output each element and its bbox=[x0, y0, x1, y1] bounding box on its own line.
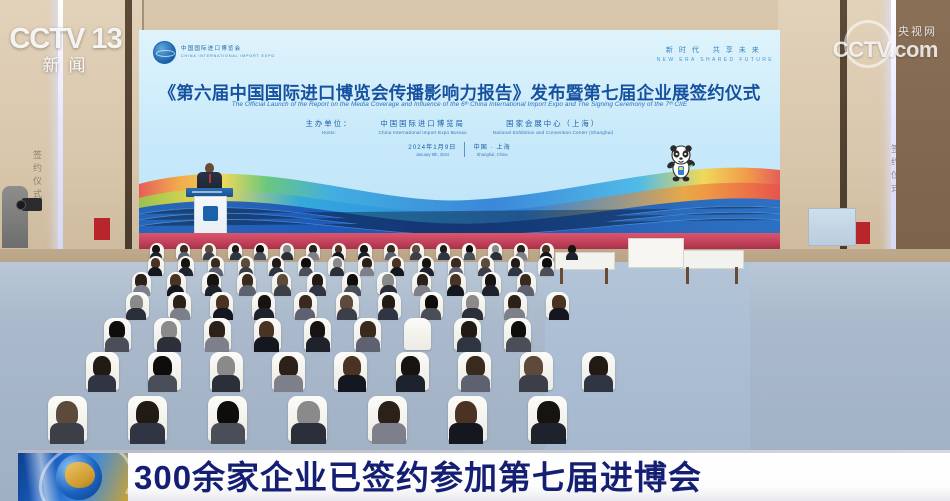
audience-member-shoulders bbox=[549, 308, 569, 320]
red-podium-box-left bbox=[94, 218, 110, 240]
host-2-cn: 国家会展中心（上海） bbox=[493, 118, 614, 129]
hosts-label: 主办单位： Hosts: bbox=[306, 118, 353, 135]
audience-member-shoulders bbox=[531, 423, 566, 444]
audience-member-shoulders bbox=[356, 337, 380, 352]
audience-member-shoulders bbox=[461, 375, 490, 393]
wall-calligraphy-right: 签约仪式 bbox=[888, 144, 901, 196]
audience-member-shoulders bbox=[584, 375, 613, 393]
headline-text: 300余家企业已签约参加第七届进博会 bbox=[134, 461, 702, 494]
slogan-cn: 新时代 共享未来 bbox=[657, 45, 774, 55]
audience-member-shoulders bbox=[126, 308, 146, 320]
host-1-en: China International Import Expo Bureau bbox=[378, 130, 466, 135]
audience-member-shoulders bbox=[447, 285, 464, 295]
audience-member-shoulders bbox=[360, 267, 374, 276]
red-podium-box-right bbox=[856, 222, 870, 244]
audience-member-shoulders bbox=[274, 285, 291, 295]
hosts-label-en: Hosts: bbox=[306, 130, 353, 135]
audience-member-shoulders bbox=[506, 337, 530, 352]
ciie-logo-cn: 中国国际进口博览会 bbox=[181, 46, 275, 53]
expo-slogan: 新时代 共享未来 NEW ERA SHARED FUTURE bbox=[657, 45, 774, 63]
stage-led-screen: 中国国际进口博览会 CHINA INTERNATIONAL IMPORT EXP… bbox=[139, 30, 780, 235]
audience-member-shoulders bbox=[274, 375, 303, 393]
hosts-label-cn: 主办单位： bbox=[306, 118, 353, 129]
audience-member-shoulders bbox=[148, 375, 177, 393]
audience-member bbox=[217, 356, 236, 377]
audience-member bbox=[279, 356, 298, 377]
panda-mascot-icon bbox=[664, 143, 698, 183]
audience-member bbox=[466, 356, 485, 377]
audience-member-shoulders bbox=[330, 267, 344, 276]
globe-icon bbox=[18, 453, 128, 501]
audience-member bbox=[401, 356, 420, 377]
audience-member-shoulders bbox=[378, 308, 398, 320]
audience-member-shoulders bbox=[566, 252, 578, 259]
broadcast-screenshot: 签约仪式 签约仪式 中国国际进口博览会 CHINA INTERNATIONAL … bbox=[0, 0, 950, 501]
slogan-en: NEW ERA SHARED FUTURE bbox=[657, 57, 774, 63]
audience-member-shoulders bbox=[540, 267, 554, 276]
audience-member-shoulders bbox=[105, 337, 129, 352]
audience-member-shoulders bbox=[254, 252, 266, 259]
audience-member-shoulders bbox=[396, 375, 425, 393]
audience-member-shoulders bbox=[212, 375, 241, 393]
ciie-logo-en: CHINA INTERNATIONAL IMPORT EXPO bbox=[181, 53, 275, 60]
head-table-3 bbox=[628, 238, 684, 268]
presenter-figure bbox=[197, 163, 222, 191]
audience-member-shoulders bbox=[205, 337, 229, 352]
audience-member-shoulders bbox=[464, 252, 476, 259]
audience-member-shoulders bbox=[338, 375, 367, 393]
audience-member-shoulders bbox=[239, 285, 256, 295]
audience-member bbox=[93, 356, 112, 377]
ciie-globe-emblem-icon bbox=[153, 41, 176, 64]
host-organization-2: 国家会展中心（上海） National Exhibition and Conve… bbox=[493, 118, 614, 135]
audience-member-shoulders bbox=[281, 252, 293, 259]
audience-member-shoulders bbox=[519, 375, 548, 393]
audience-member-shoulders bbox=[457, 337, 481, 352]
audience-member-shoulders bbox=[449, 423, 484, 444]
watermark-ring-icon bbox=[844, 20, 892, 68]
audience-member-shoulders bbox=[306, 337, 330, 352]
audience-member-shoulders bbox=[211, 423, 246, 444]
audience-member bbox=[343, 356, 362, 377]
audience-member bbox=[589, 356, 608, 377]
audience-member-shoulders bbox=[157, 337, 181, 352]
camera-lens-icon bbox=[16, 200, 26, 210]
side-exhibit-table bbox=[808, 208, 856, 246]
ciie-logo: 中国国际进口博览会 CHINA INTERNATIONAL IMPORT EXP… bbox=[153, 41, 275, 64]
audience-member-shoulders bbox=[438, 252, 450, 259]
event-title-en: The Official Launch of the Report on the… bbox=[139, 101, 780, 108]
podium-emblem-icon bbox=[203, 206, 218, 221]
audience-seat bbox=[404, 318, 431, 350]
audience-member-shoulders bbox=[130, 423, 165, 444]
audience-member-shoulders bbox=[482, 285, 499, 295]
wall-calligraphy-left: 签约仪式 bbox=[30, 150, 43, 202]
host-2-en: National Exhibition and Convention Cente… bbox=[493, 130, 614, 135]
audience-member-shoulders bbox=[337, 308, 357, 320]
audience-member-shoulders bbox=[291, 423, 326, 444]
audience-member-shoulders bbox=[254, 337, 278, 352]
audience-member-shoulders bbox=[88, 375, 117, 393]
headline-banner: 300余家企业已签约参加第七届进博会 bbox=[18, 453, 950, 501]
host-organization-1: 中国国际进口博览局 China International Import Exp… bbox=[378, 118, 466, 135]
hosts-row: 主办单位： Hosts: 中国国际进口博览局 China Internation… bbox=[139, 118, 780, 135]
host-1-cn: 中国国际进口博览局 bbox=[378, 118, 466, 129]
audience-member bbox=[524, 356, 543, 377]
camera-operator bbox=[2, 186, 28, 248]
audience-member-shoulders bbox=[50, 423, 85, 444]
audience-member bbox=[153, 356, 172, 377]
audience-member-shoulders bbox=[372, 423, 407, 444]
audience-member-shoulders bbox=[148, 267, 162, 276]
